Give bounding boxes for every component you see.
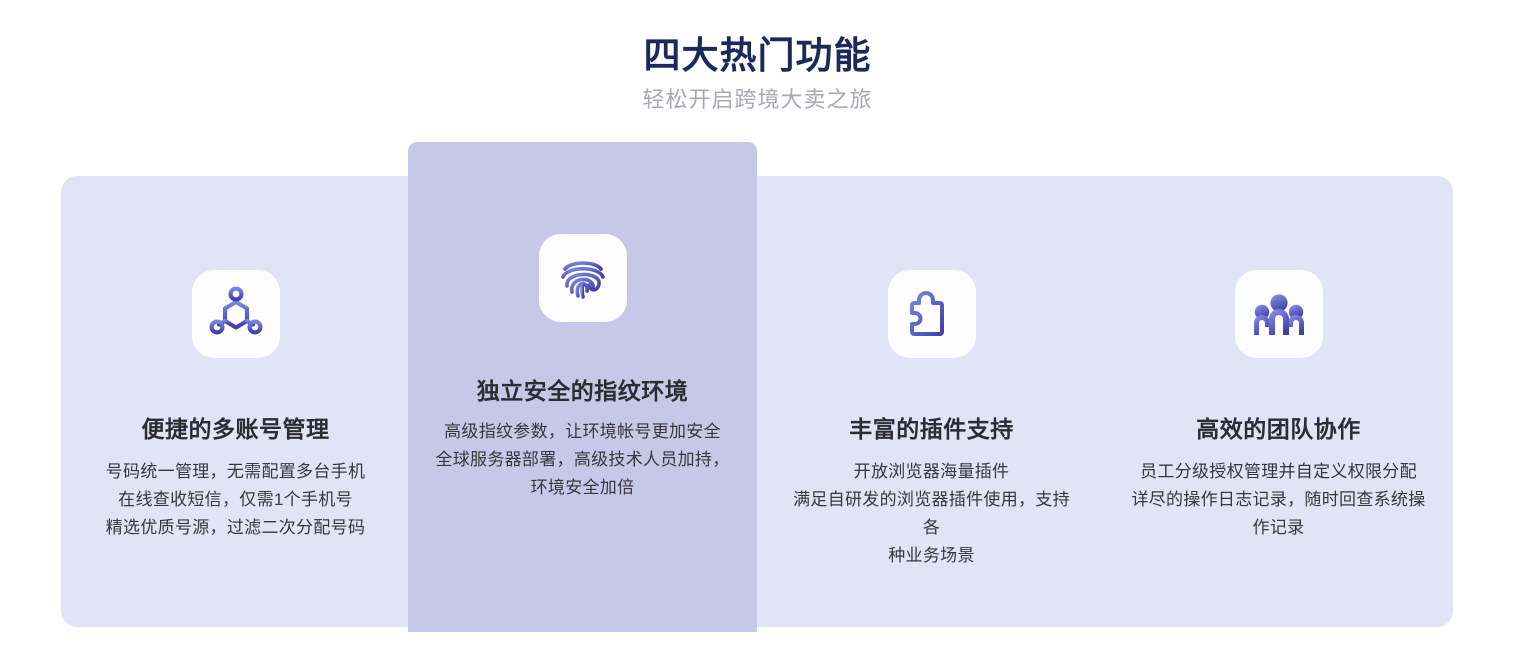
puzzle-plugin-icon	[904, 286, 960, 342]
card-title: 独立安全的指纹环境	[408, 322, 757, 406]
feature-card-multi-account[interactable]: 便捷的多账号管理 号码统一管理，无需配置多台手机 在线查收短信，仅需1个手机号 …	[61, 176, 410, 627]
page-title: 四大热门功能	[0, 0, 1515, 80]
card-description: 员工分级授权管理并自定义权限分配 详尽的操作日志记录，随时回查系统操 作记录	[1129, 444, 1429, 542]
feature-card-team[interactable]: 高效的团队协作 员工分级授权管理并自定义权限分配 详尽的操作日志记录，随时回查系…	[1104, 176, 1453, 627]
card-description: 高级指纹参数，让环境帐号更加安全 全球服务器部署，高级技术人员加持， 环境安全加…	[429, 406, 737, 502]
fingerprint-icon	[555, 250, 611, 306]
card-description: 开放浏览器海量插件 满足自研发的浏览器插件使用，支持各 种业务场景	[787, 444, 1077, 570]
card-description: 号码统一管理，无需配置多台手机 在线查收短信，仅需1个手机号 精选优质号源，过滤…	[86, 444, 386, 542]
network-nodes-icon	[208, 286, 264, 342]
icon-tile	[192, 270, 280, 358]
card-title: 丰富的插件支持	[757, 358, 1106, 444]
card-title: 高效的团队协作	[1104, 358, 1453, 444]
feature-card-plugins[interactable]: 丰富的插件支持 开放浏览器海量插件 满足自研发的浏览器插件使用，支持各 种业务场…	[757, 176, 1106, 627]
page-subtitle: 轻松开启跨境大卖之旅	[0, 80, 1515, 115]
team-people-icon	[1251, 286, 1307, 342]
feature-card-fingerprint[interactable]: 独立安全的指纹环境 高级指纹参数，让环境帐号更加安全 全球服务器部署，高级技术人…	[408, 142, 757, 632]
icon-tile	[888, 270, 976, 358]
icon-tile	[1235, 270, 1323, 358]
card-title: 便捷的多账号管理	[61, 358, 410, 444]
page-header: 四大热门功能 轻松开启跨境大卖之旅	[0, 0, 1515, 115]
icon-tile	[539, 234, 627, 322]
